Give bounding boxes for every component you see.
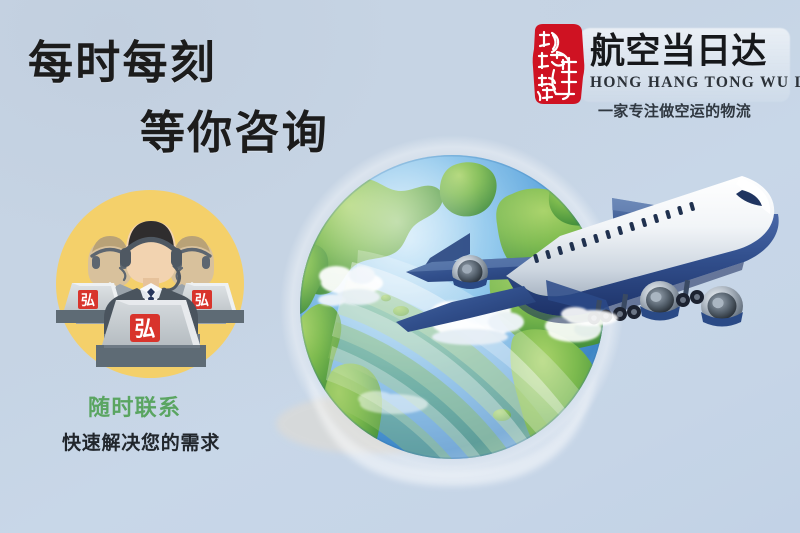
brand-title: 航空当日达 — [590, 34, 767, 69]
company-seal-logo — [530, 22, 586, 106]
front-desk — [96, 345, 206, 367]
svg-text:弘: 弘 — [135, 317, 156, 341]
callout-green-label: 随时联系 — [88, 390, 181, 422]
brand-tagline: 一家专注做空运的物流 — [598, 100, 751, 121]
svg-text:弘: 弘 — [81, 293, 95, 309]
callout-dark-label: 快速解决您的需求 — [62, 428, 220, 455]
headline-line-2: 等你咨询 — [140, 96, 329, 161]
brand-block: 航空当日达 HONG HANG TONG WU LIU 一家专注做空运的物流 — [528, 18, 790, 128]
svg-text:弘: 弘 — [195, 293, 209, 309]
laptop-center: 弘 — [102, 300, 200, 345]
promo-banner: 弘 弘 — [0, 0, 800, 533]
headline-line-1: 每时每刻 — [28, 26, 217, 91]
brand-pinyin: HONG HANG TONG WU LIU — [590, 74, 800, 92]
